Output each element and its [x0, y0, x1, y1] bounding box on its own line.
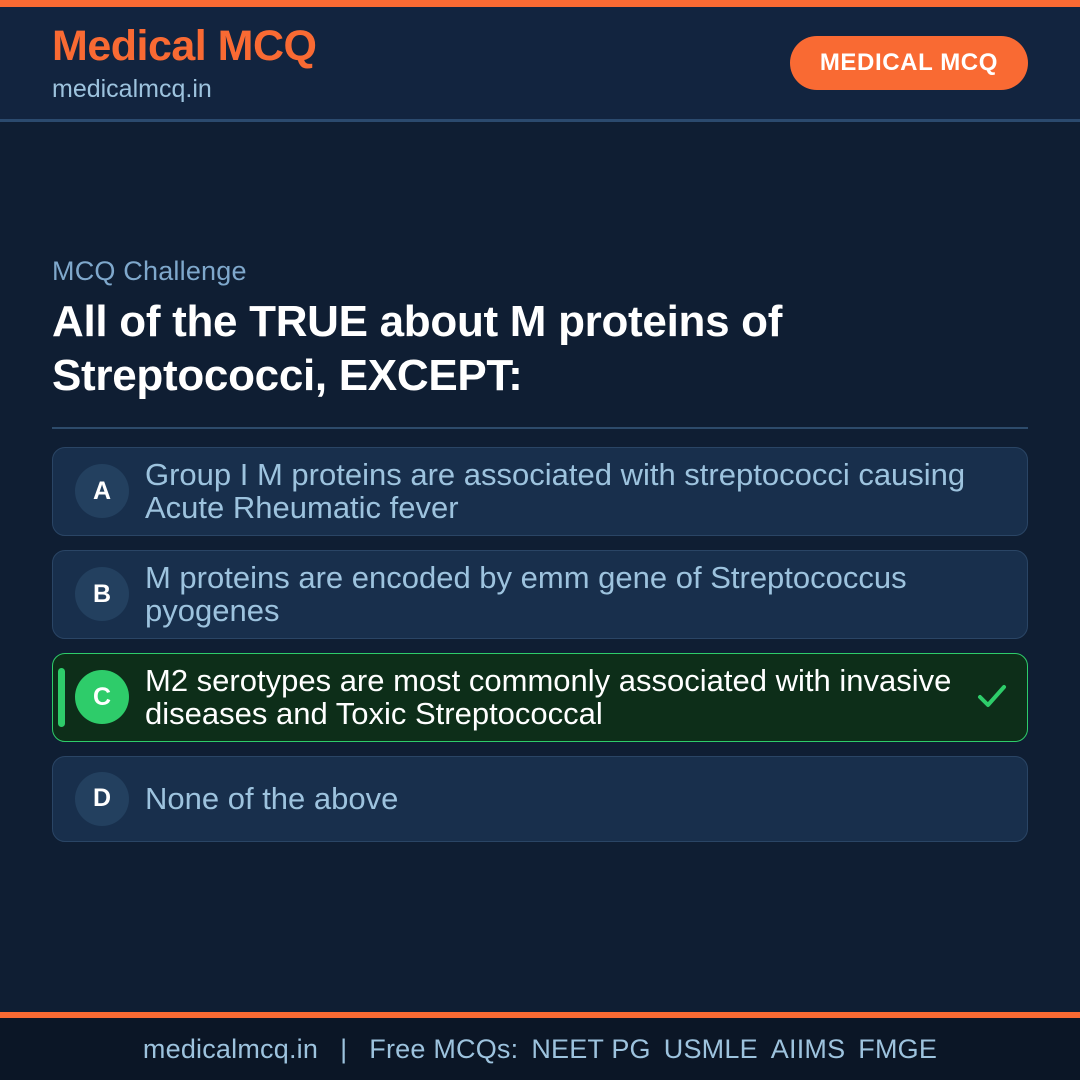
option-c-correct[interactable]: C M2 serotypes are most commonly associa… — [52, 653, 1028, 742]
check-icon — [975, 680, 1009, 714]
page-footer: medicalmcq.in | Free MCQs: NEET PG USMLE… — [0, 1018, 1080, 1080]
poster-root: Medical MCQ medicalmcq.in MEDICAL MCQ MC… — [0, 0, 1080, 1080]
main-content: MCQ Challenge All of the TRUE about M pr… — [0, 122, 1080, 1012]
brand-website: medicalmcq.in — [52, 76, 317, 104]
question-text: All of the TRUE about M proteins of Stre… — [52, 295, 1012, 402]
brand-block: Medical MCQ medicalmcq.in — [52, 23, 317, 104]
brand-title: Medical MCQ — [52, 23, 317, 69]
page-header: Medical MCQ medicalmcq.in MEDICAL MCQ — [0, 7, 1080, 122]
option-text: M2 serotypes are most commonly associate… — [145, 664, 973, 731]
correct-accent-bar — [58, 668, 65, 727]
footer-exam-fmge: FMGE — [858, 1034, 937, 1065]
footer-separator: | — [340, 1034, 347, 1065]
footer-exam-usmle: USMLE — [664, 1034, 758, 1065]
option-letter-badge: D — [75, 772, 129, 826]
option-letter-badge: A — [75, 464, 129, 518]
question-kicker: MCQ Challenge — [52, 256, 1028, 287]
options-list: A Group I M proteins are associated with… — [52, 447, 1028, 842]
option-a[interactable]: A Group I M proteins are associated with… — [52, 447, 1028, 536]
question-divider — [52, 427, 1028, 429]
option-text: None of the above — [145, 782, 1009, 815]
footer-exam-neetpg: NEET PG — [531, 1034, 650, 1065]
option-text: Group I M proteins are associated with s… — [145, 458, 1009, 525]
option-d[interactable]: D None of the above — [52, 756, 1028, 842]
footer-label: Free MCQs: — [369, 1034, 518, 1065]
option-b[interactable]: B M proteins are encoded by emm gene of … — [52, 550, 1028, 639]
option-letter-badge: B — [75, 567, 129, 621]
top-accent-rule — [0, 0, 1080, 7]
option-text: M proteins are encoded by emm gene of St… — [145, 561, 1009, 628]
footer-exam-aiims: AIIMS — [771, 1034, 846, 1065]
footer-site: medicalmcq.in — [143, 1034, 318, 1065]
option-letter-badge: C — [75, 670, 129, 724]
header-badge: MEDICAL MCQ — [790, 36, 1028, 90]
question-zone: MCQ Challenge All of the TRUE about M pr… — [52, 256, 1028, 841]
